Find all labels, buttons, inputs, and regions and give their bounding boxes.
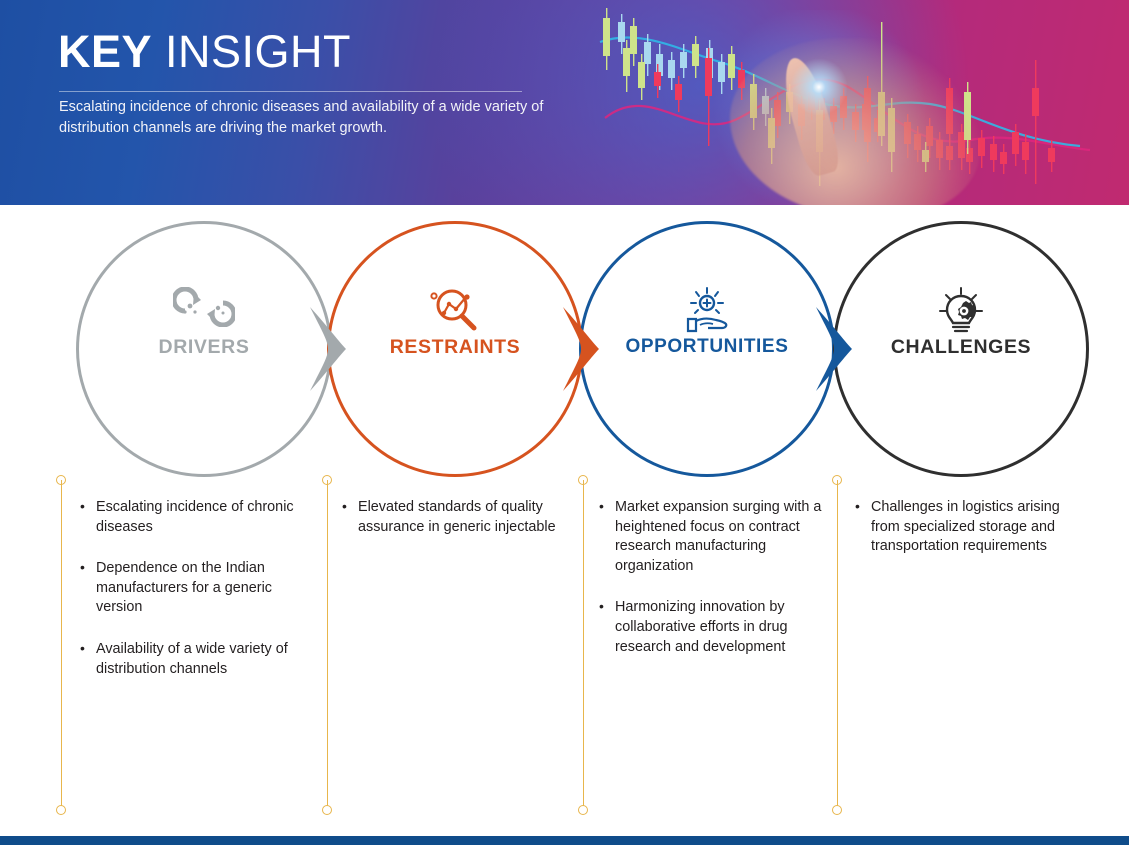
node-label-opportunities: OPPORTUNITIES: [579, 336, 835, 358]
header-subtitle: Escalating incidence of chronic diseases…: [59, 97, 599, 139]
bullet-column-drivers: Escalating incidence of chronic diseases…: [78, 498, 310, 701]
page-title-bold: KEY: [58, 26, 152, 77]
connector-stem: [327, 480, 328, 810]
list-item: Dependence on the Indian manufacturers f…: [78, 559, 310, 618]
connector-stem: [837, 480, 838, 810]
connector-ring-bottom: [578, 805, 588, 815]
bullet-column-challenges: Challenges in logistics arising from spe…: [853, 498, 1085, 579]
connector-stem: [583, 480, 584, 810]
connector-ring-bottom: [56, 805, 66, 815]
bullet-column-restraints: Elevated standards of quality assurance …: [340, 498, 572, 559]
node-label-challenges: CHALLENGES: [833, 336, 1089, 359]
list-item: Harmonizing innovation by collaborative …: [597, 598, 829, 657]
connector-stem: [61, 480, 62, 810]
header-artwork: [560, 0, 1129, 205]
infographic-page: KEY INSIGHT Escalating incidence of chro…: [0, 0, 1129, 845]
connector-ring-bottom: [322, 805, 332, 815]
footer-bar: [0, 836, 1129, 845]
touch-spark-icon: [790, 58, 848, 116]
connector-ring-bottom: [832, 805, 842, 815]
page-title-light: INSIGHT: [152, 26, 351, 77]
list-item: Availability of a wide variety of distri…: [78, 640, 310, 679]
hand-holding-idea-icon: [579, 287, 835, 340]
list-item: Market expansion surging with a heighten…: [597, 498, 829, 576]
page-title: KEY INSIGHT: [58, 24, 351, 80]
node-label-drivers: DRIVERS: [76, 336, 332, 359]
node-diagram: DRIVERS RESTRAINTS OPPORTUNITIES CHALLEN…: [0, 205, 1129, 505]
cycle-arrows-gears-icon: [76, 287, 332, 332]
list-item: Elevated standards of quality assurance …: [340, 498, 572, 537]
node-label-restraints: RESTRAINTS: [327, 336, 583, 359]
hand-graphic: [730, 38, 980, 205]
header-banner: KEY INSIGHT Escalating incidence of chro…: [0, 0, 1129, 205]
list-item: Escalating incidence of chronic diseases: [78, 498, 310, 537]
title-divider: [59, 91, 522, 92]
magnifier-data-analysis-icon: [327, 287, 583, 336]
bullet-column-opportunities: Market expansion surging with a heighten…: [597, 498, 829, 679]
lightbulb-gear-icon: [833, 287, 1089, 342]
list-item: Challenges in logistics arising from spe…: [853, 498, 1085, 557]
